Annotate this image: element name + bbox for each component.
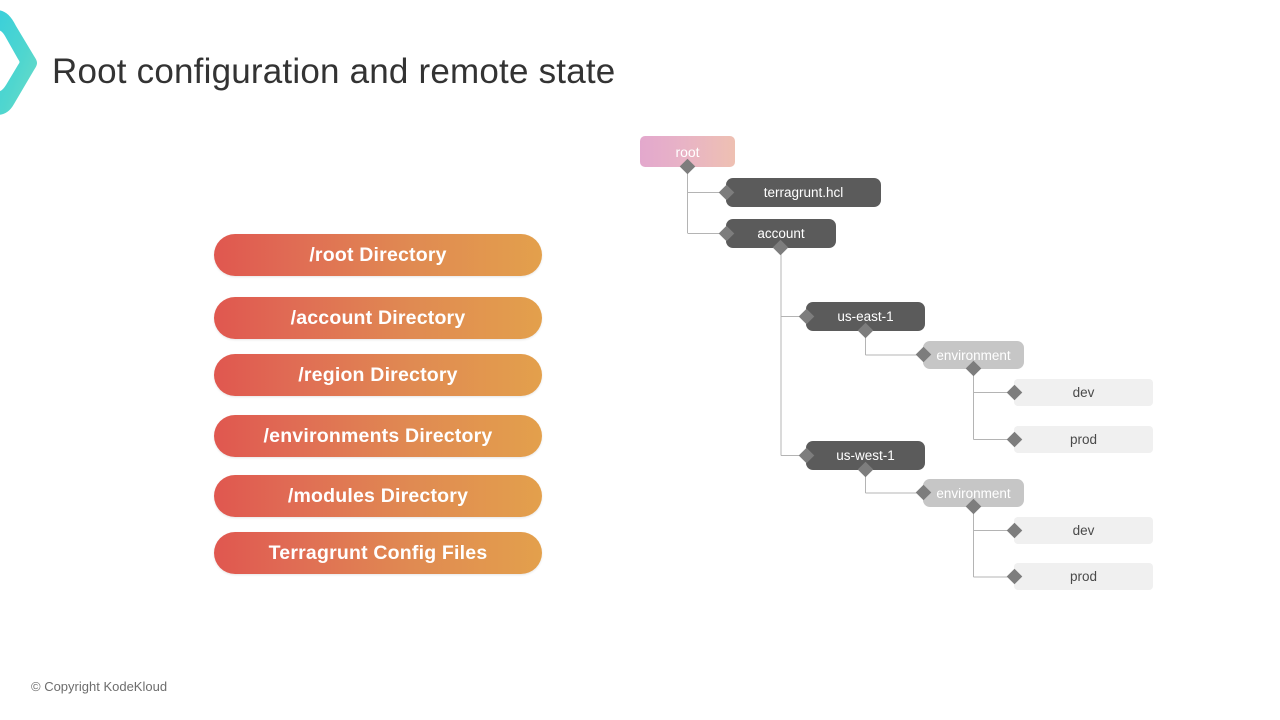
connector-diamond <box>916 485 932 501</box>
connector-diamond <box>966 361 982 377</box>
tree-node-us-east-1-prod[interactable]: prod <box>1014 426 1153 453</box>
connector-diamond <box>799 448 815 464</box>
tree-node-label: root <box>640 144 735 160</box>
tree-node-label: terragrunt.hcl <box>726 185 881 200</box>
pill-label: /environments Directory <box>264 425 493 448</box>
connector-diamond <box>719 185 735 201</box>
pill-label: /modules Directory <box>288 485 468 508</box>
connector-diamond <box>1007 385 1023 401</box>
pill-label: /region Directory <box>298 364 457 387</box>
pill-label: /account Directory <box>291 307 466 330</box>
tree-node-root[interactable]: root <box>640 136 735 167</box>
tree-node-label: environment <box>923 486 1024 501</box>
connector-diamond <box>719 226 735 242</box>
tree-node-us-west-1[interactable]: us-west-1 <box>806 441 925 470</box>
connector-diamond <box>1007 569 1023 585</box>
pill-label: Terragrunt Config Files <box>269 542 488 565</box>
tree-node-us-west-1-prod[interactable]: prod <box>1014 563 1153 590</box>
connector-diamond <box>858 462 874 478</box>
connector-diamond <box>858 323 874 339</box>
directory-tree-diagram: root terragrunt.hcl account us-east-1 en… <box>0 0 1280 720</box>
tree-node-us-west-1-dev[interactable]: dev <box>1014 517 1153 544</box>
tree-node-environment-us-east-1[interactable]: environment <box>923 341 1024 369</box>
tree-node-account[interactable]: account <box>726 219 836 248</box>
brand-chevron-icon <box>0 8 40 116</box>
pill-modules-directory[interactable]: /modules Directory <box>214 475 542 517</box>
connector-diamond <box>680 159 696 175</box>
connector-diamond <box>916 347 932 363</box>
pill-terragrunt-config-files[interactable]: Terragrunt Config Files <box>214 532 542 574</box>
tree-node-label: prod <box>1014 432 1153 447</box>
tree-node-label: environment <box>923 348 1024 363</box>
tree-node-label: us-east-1 <box>806 309 925 324</box>
pill-account-directory[interactable]: /account Directory <box>214 297 542 339</box>
tree-node-us-east-1[interactable]: us-east-1 <box>806 302 925 331</box>
connector-diamond <box>799 309 815 325</box>
connector-diamond <box>1007 523 1023 539</box>
page-title: Root configuration and remote state <box>52 52 615 92</box>
tree-node-environment-us-west-1[interactable]: environment <box>923 479 1024 507</box>
connector-diamond <box>966 499 982 515</box>
tree-node-terragrunt-hcl[interactable]: terragrunt.hcl <box>726 178 881 207</box>
connector-diamond <box>773 240 789 256</box>
connector-diamond <box>1007 432 1023 448</box>
pill-label: /root Directory <box>309 244 446 267</box>
tree-node-label: us-west-1 <box>806 448 925 463</box>
pill-environments-directory[interactable]: /environments Directory <box>214 415 542 457</box>
tree-node-label: account <box>726 226 836 241</box>
tree-node-label: dev <box>1014 385 1153 400</box>
footer-copyright: © Copyright KodeKloud <box>31 679 167 694</box>
pill-root-directory[interactable]: /root Directory <box>214 234 542 276</box>
tree-node-us-east-1-dev[interactable]: dev <box>1014 379 1153 406</box>
pill-region-directory[interactable]: /region Directory <box>214 354 542 396</box>
tree-node-label: dev <box>1014 523 1153 538</box>
tree-node-label: prod <box>1014 569 1153 584</box>
tree-connector-lines <box>0 0 1280 720</box>
